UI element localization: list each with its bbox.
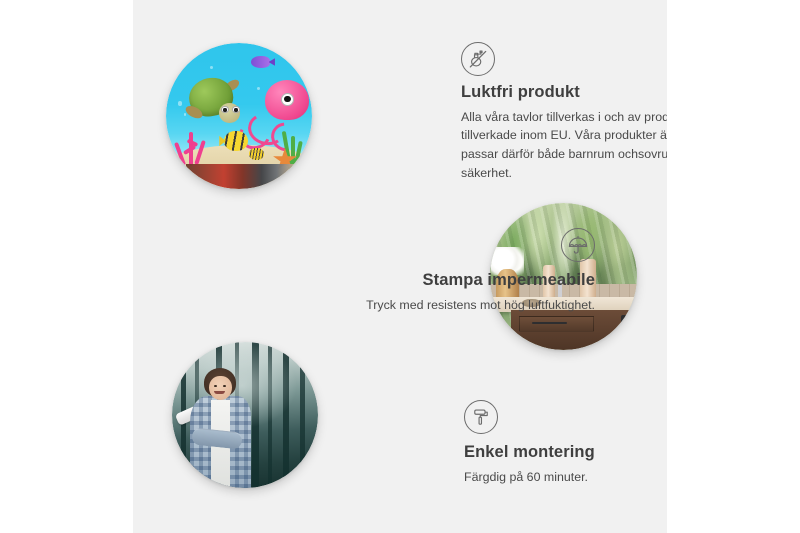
feature-block-waterproof: Stampa impermeabile Tryck med resistens … — [313, 228, 595, 314]
bubble-icon — [178, 101, 182, 105]
feature-title: Enkel montering — [464, 443, 667, 463]
product-image-underwater-cartoon-scene[interactable] — [166, 43, 312, 189]
drawer-handle — [532, 322, 567, 324]
small-fish-icon — [249, 148, 264, 160]
feature-description: Färgdig på 60 minuter. — [464, 468, 667, 487]
icon-row — [461, 42, 667, 76]
feature-block-mounting: Enkel montering Färgdig på 60 minuter. — [464, 400, 667, 486]
photo-strip-overlay — [186, 164, 312, 189]
wood-vanity-cabinet — [511, 310, 637, 350]
no-odor-spray-bottle-icon — [461, 42, 495, 76]
image-clip — [172, 342, 318, 488]
feature-block-odorless: Luktfri produkt Alla våra tavlor tillver… — [461, 42, 667, 182]
product-image-woman-paint-roller-forest-wallpaper[interactable] — [172, 342, 318, 488]
feature-description: Alla våra tavlor tillverkas i och av pro… — [461, 108, 667, 182]
page-root: Luktfri produkt Alla våra tavlor tillver… — [0, 0, 800, 533]
feature-title: Stampa impermeabile — [313, 271, 595, 291]
icon-row — [464, 400, 667, 434]
purple-fish-icon — [251, 56, 270, 68]
coral — [172, 125, 210, 166]
eye — [214, 385, 217, 387]
icon-row — [313, 228, 595, 262]
content-panel: Luktfri produkt Alla våra tavlor tillver… — [133, 0, 667, 533]
cabinet-handle — [621, 315, 626, 336]
feature-title: Luktfri produkt — [461, 83, 667, 103]
feature-description: Tryck med resistens mot hög luftfuktighe… — [313, 296, 595, 315]
image-clip — [166, 43, 312, 189]
umbrella-icon — [561, 228, 595, 262]
paint-roller-icon — [464, 400, 498, 434]
yellow-striped-fish-icon — [224, 131, 247, 151]
